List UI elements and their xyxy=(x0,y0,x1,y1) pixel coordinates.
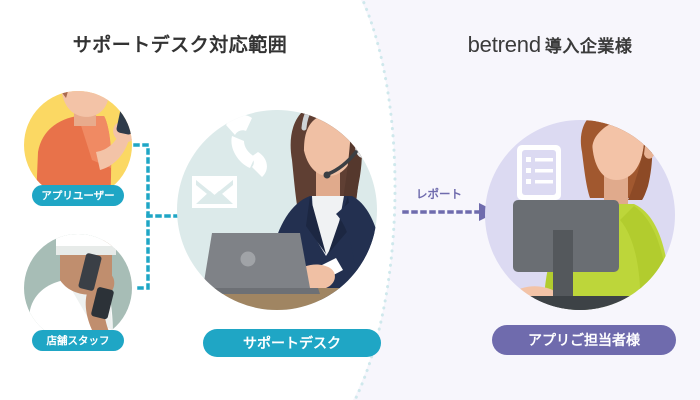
page-title-right-suffix: 導入企業様 xyxy=(545,37,633,56)
checklist-document-icon xyxy=(517,145,561,200)
badge-store-staff: 店舗スタッフ xyxy=(32,330,124,351)
page-title-left: サポートデスク対応範囲 xyxy=(0,30,360,57)
betrend-logo-text: betrend xyxy=(468,32,541,57)
badge-app-user: アプリユーザー xyxy=(32,185,124,206)
diagram-canvas: サポートデスク対応範囲 betrend導入企業様 アプリユーザー 店舗スタッフ … xyxy=(0,0,700,400)
badge-app-manager: アプリご担当者様 xyxy=(492,325,676,355)
report-connector-label: レポート xyxy=(416,186,462,202)
page-title-right: betrend導入企業様 xyxy=(400,32,700,58)
keyboard-icon xyxy=(502,296,660,312)
mouse-icon xyxy=(498,292,526,308)
badge-support-desk: サポートデスク xyxy=(203,329,381,357)
